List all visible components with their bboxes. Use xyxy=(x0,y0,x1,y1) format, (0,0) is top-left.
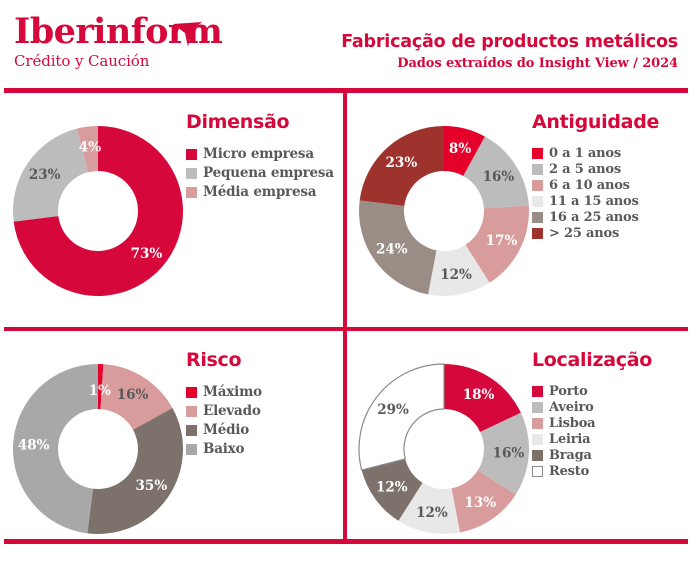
slice-value-label-antiguidade-4: 24% xyxy=(376,241,408,257)
legend-item-dimensao-0[interactable]: Micro empresa xyxy=(186,146,342,162)
page-header: Iberinform Crédito y Caución Fabricação … xyxy=(0,0,692,88)
slice-value-label-risco-3: 48% xyxy=(18,437,50,453)
slice-value-label-risco-2: 35% xyxy=(136,478,168,494)
donut-chart-localizacao: 18%16%13%12%12%29% xyxy=(356,345,532,553)
brand-logo[interactable]: Iberinform Crédito y Caución xyxy=(14,14,224,69)
legend-item-localizacao-0[interactable]: Porto xyxy=(532,384,688,399)
legend-label-dimensao-0: Micro empresa xyxy=(203,146,314,162)
legend-label-risco-1: Elevado xyxy=(203,403,261,419)
legend-swatch-icon-antiguidade-4 xyxy=(532,212,543,223)
donut-chart-risco: 1%16%35%48% xyxy=(10,345,186,553)
slice-value-label-localizacao-4: 12% xyxy=(376,479,408,495)
legend-label-antiguidade-4: 16 a 25 anos xyxy=(549,210,639,225)
slice-value-label-risco-0: 1% xyxy=(89,383,111,399)
legend-item-localizacao-2[interactable]: Lisboa xyxy=(532,416,688,431)
legend-label-antiguidade-1: 2 a 5 anos xyxy=(549,162,621,177)
legend-item-antiguidade-3[interactable]: 11 a 15 anos xyxy=(532,194,688,209)
legend-label-risco-0: Máximo xyxy=(203,384,262,400)
legend-swatch-icon-antiguidade-5 xyxy=(532,228,543,239)
legend-item-dimensao-1[interactable]: Pequena empresa xyxy=(186,165,342,181)
legend-item-risco-0[interactable]: Máximo xyxy=(186,384,342,400)
slice-value-label-risco-1: 16% xyxy=(117,387,149,403)
legend-swatch-icon-dimensao-1 xyxy=(186,168,197,179)
slice-value-label-dimensao-2: 4% xyxy=(79,140,101,156)
legend-swatch-icon-antiguidade-2 xyxy=(532,180,543,191)
logo-tagline: Crédito y Caución xyxy=(14,53,224,69)
page-title: Fabricação de productos metálicos xyxy=(341,32,678,52)
legend-label-antiguidade-2: 6 a 10 anos xyxy=(549,178,630,193)
swoosh-checkmark-icon xyxy=(172,22,206,48)
legend-swatch-icon-localizacao-3 xyxy=(532,434,543,445)
legend-item-antiguidade-2[interactable]: 6 a 10 anos xyxy=(532,178,688,193)
legend-item-localizacao-5[interactable]: Resto xyxy=(532,464,688,479)
legend-label-localizacao-3: Leiria xyxy=(549,432,590,447)
legend-label-localizacao-0: Porto xyxy=(549,384,588,399)
title-block: Fabricação de productos metálicos Dados … xyxy=(341,32,678,71)
legend-swatch-icon-antiguidade-0 xyxy=(532,148,543,159)
legend-swatch-icon-risco-2 xyxy=(186,425,197,436)
legend-swatch-icon-localizacao-1 xyxy=(532,402,543,413)
donut-svg-risco: 1%16%35%48% xyxy=(10,345,186,553)
panel-risco: 1%16%35%48% Risco MáximoElevadoMédioBaix… xyxy=(0,331,346,563)
donut-svg-dimensao: 73%23%4% xyxy=(10,107,186,315)
legend-swatch-icon-localizacao-4 xyxy=(532,450,543,461)
legend-label-antiguidade-0: 0 a 1 anos xyxy=(549,146,621,161)
slice-value-label-antiguidade-0: 8% xyxy=(449,141,471,157)
slice-value-label-antiguidade-5: 23% xyxy=(386,155,418,171)
legend-item-antiguidade-4[interactable]: 16 a 25 anos xyxy=(532,210,688,225)
panel-localizacao: 18%16%13%12%12%29% Localização PortoAvei… xyxy=(346,331,692,563)
legend-localizacao: PortoAveiroLisboaLeiriaBragaResto xyxy=(532,384,688,479)
legend-label-localizacao-5: Resto xyxy=(549,464,589,479)
slice-value-label-antiguidade-2: 17% xyxy=(486,233,518,249)
legend-swatch-icon-localizacao-0 xyxy=(532,386,543,397)
legend-swatch-icon-antiguidade-1 xyxy=(532,164,543,175)
legend-swatch-icon-localizacao-5 xyxy=(532,466,543,477)
donut-svg-antiguidade: 8%16%17%12%24%23% xyxy=(356,107,532,315)
legend-swatch-icon-antiguidade-3 xyxy=(532,196,543,207)
legend-item-risco-2[interactable]: Médio xyxy=(186,422,342,438)
legend-label-localizacao-2: Lisboa xyxy=(549,416,595,431)
legend-swatch-icon-dimensao-2 xyxy=(186,187,197,198)
panel-dimensao-side: Dimensão Micro empresaPequena empresaMéd… xyxy=(186,111,342,203)
donut-chart-dimensao: 73%23%4% xyxy=(10,107,186,315)
donut-svg-localizacao: 18%16%13%12%12%29% xyxy=(356,345,532,553)
legend-item-antiguidade-5[interactable]: > 25 anos xyxy=(532,226,688,241)
panel-risco-side: Risco MáximoElevadoMédioBaixo xyxy=(186,349,342,460)
panel-title-dimensao: Dimensão xyxy=(186,111,342,133)
slice-value-label-dimensao-1: 23% xyxy=(29,167,61,183)
panel-antiguidade: 8%16%17%12%24%23% Antiguidade 0 a 1 anos… xyxy=(346,93,692,329)
panel-localizacao-side: Localização PortoAveiroLisboaLeiriaBraga… xyxy=(532,349,688,480)
legend-swatch-icon-localizacao-2 xyxy=(532,418,543,429)
legend-swatch-icon-risco-3 xyxy=(186,444,197,455)
slice-value-label-localizacao-1: 16% xyxy=(493,446,525,462)
legend-label-antiguidade-5: > 25 anos xyxy=(549,226,619,241)
legend-dimensao: Micro empresaPequena empresaMédia empres… xyxy=(186,146,342,200)
legend-item-localizacao-1[interactable]: Aveiro xyxy=(532,400,688,415)
legend-item-risco-3[interactable]: Baixo xyxy=(186,441,342,457)
panel-title-localizacao: Localização xyxy=(532,349,688,371)
legend-item-localizacao-3[interactable]: Leiria xyxy=(532,432,688,447)
legend-label-risco-3: Baixo xyxy=(203,441,244,457)
legend-swatch-icon-risco-0 xyxy=(186,387,197,398)
infographic-page: Iberinform Crédito y Caución Fabricação … xyxy=(0,0,692,563)
logo-wordmark: Iberinform xyxy=(14,14,224,50)
legend-risco: MáximoElevadoMédioBaixo xyxy=(186,384,342,457)
legend-item-dimensao-2[interactable]: Média empresa xyxy=(186,184,342,200)
slice-value-label-dimensao-0: 73% xyxy=(131,246,163,262)
donut-chart-antiguidade: 8%16%17%12%24%23% xyxy=(356,107,532,315)
slice-value-label-localizacao-0: 18% xyxy=(463,387,495,403)
legend-item-antiguidade-0[interactable]: 0 a 1 anos xyxy=(532,146,688,161)
legend-label-localizacao-1: Aveiro xyxy=(549,400,594,415)
legend-swatch-icon-dimensao-0 xyxy=(186,149,197,160)
panel-antiguidade-side: Antiguidade 0 a 1 anos2 a 5 anos6 a 10 a… xyxy=(532,111,688,242)
slice-value-label-localizacao-2: 13% xyxy=(464,495,496,511)
legend-swatch-icon-risco-1 xyxy=(186,406,197,417)
legend-item-localizacao-4[interactable]: Braga xyxy=(532,448,688,463)
legend-label-dimensao-1: Pequena empresa xyxy=(203,165,334,181)
legend-label-localizacao-4: Braga xyxy=(549,448,592,463)
legend-label-risco-2: Médio xyxy=(203,422,249,438)
panel-title-antiguidade: Antiguidade xyxy=(532,111,688,133)
legend-label-dimensao-2: Média empresa xyxy=(203,184,316,200)
panel-dimensao: 73%23%4% Dimensão Micro empresaPequena e… xyxy=(0,93,346,329)
slice-value-label-localizacao-3: 12% xyxy=(416,505,448,521)
page-subtitle: Dados extraídos do Insight View / 2024 xyxy=(341,56,678,71)
slice-value-label-localizacao-5: 29% xyxy=(377,402,409,418)
panel-title-risco: Risco xyxy=(186,349,342,371)
slice-value-label-antiguidade-3: 12% xyxy=(440,267,472,283)
legend-label-antiguidade-3: 11 a 15 anos xyxy=(549,194,639,209)
legend-item-antiguidade-1[interactable]: 2 a 5 anos xyxy=(532,162,688,177)
slice-value-label-antiguidade-1: 16% xyxy=(483,169,515,185)
legend-antiguidade: 0 a 1 anos2 a 5 anos6 a 10 anos11 a 15 a… xyxy=(532,146,688,241)
legend-item-risco-1[interactable]: Elevado xyxy=(186,403,342,419)
